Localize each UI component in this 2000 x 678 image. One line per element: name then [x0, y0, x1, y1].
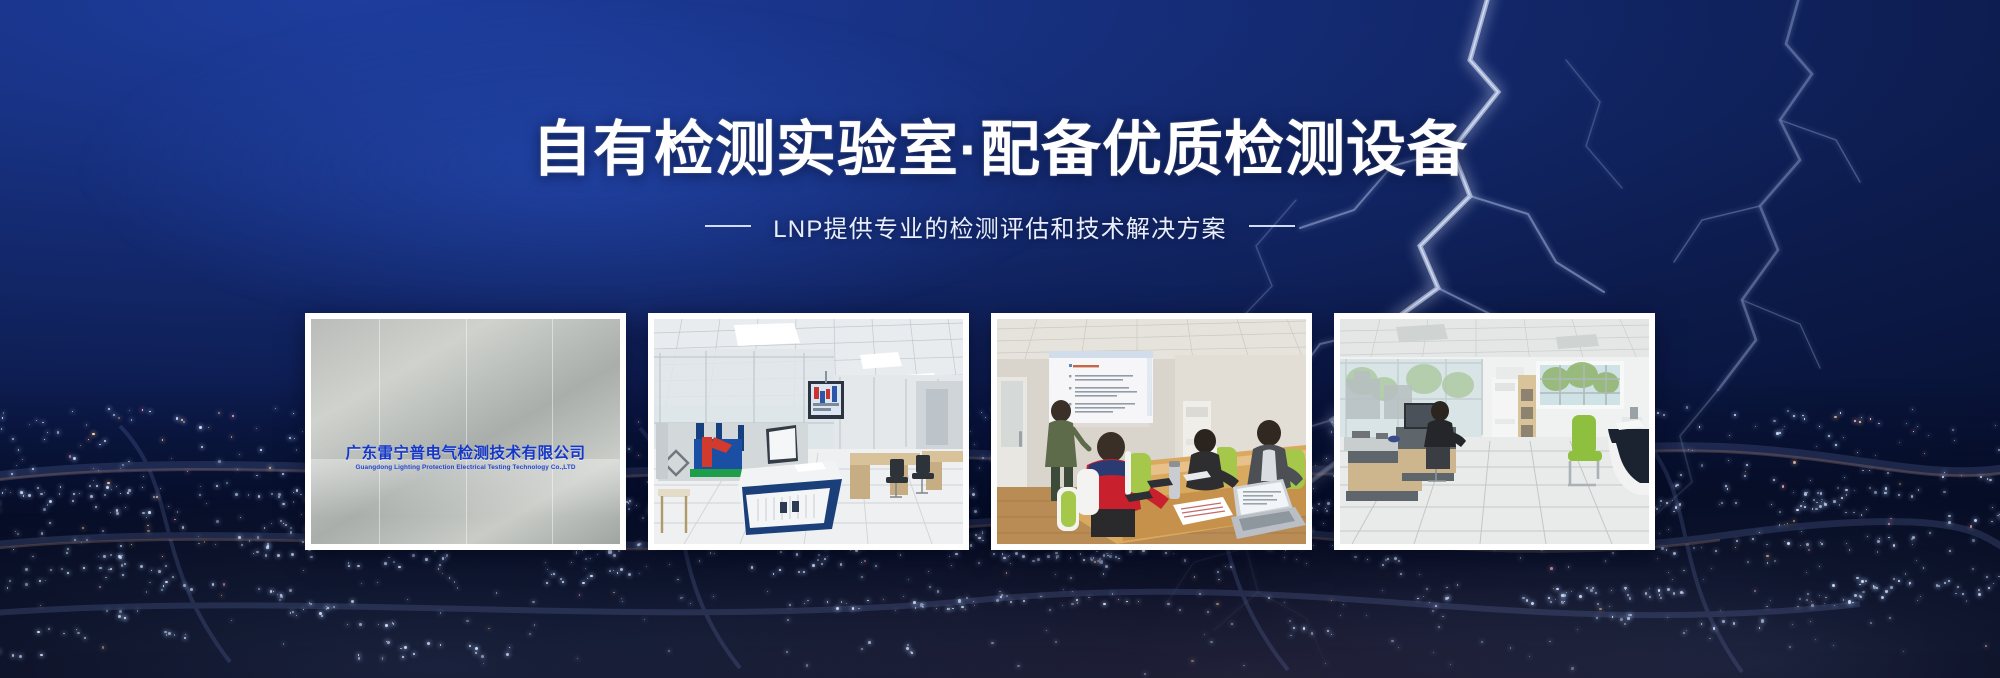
banner-stage: 自有检测实验室·配备优质检测设备 LNP提供专业的检测评估和技术解决方案: [0, 0, 2000, 678]
banner-headline: 自有检测实验室·配备优质检测设备 LNP提供专业的检测评估和技术解决方案: [0, 118, 2000, 244]
gallery-item-meeting[interactable]: [991, 313, 1312, 550]
banner-subtitle: LNP提供专业的检测评估和技术解决方案: [773, 209, 1227, 244]
banner-subtitle-row: LNP提供专业的检测评估和技术解决方案: [0, 209, 2000, 244]
gallery-item-company-sign[interactable]: 广东雷宁普电气检测技术有限公司 Guangdong Lighting Prote…: [305, 313, 626, 550]
gallery-item-office[interactable]: [1334, 313, 1655, 550]
rule-right-icon: [1249, 225, 1295, 227]
company-sign-photo: 广东雷宁普电气检测技术有限公司 Guangdong Lighting Prote…: [311, 319, 620, 544]
photo-gallery: 广东雷宁普电气检测技术有限公司 Guangdong Lighting Prote…: [305, 313, 1655, 550]
hv-lab-photo: [654, 319, 963, 544]
banner-title: 自有检测实验室·配备优质检测设备: [0, 118, 2000, 183]
rule-left-icon: [705, 225, 751, 227]
company-name-en: Guangdong Lighting Protection Electrical…: [355, 464, 575, 471]
meeting-room-photo: [997, 319, 1306, 544]
company-name-zh: 广东雷宁普电气检测技术有限公司: [345, 441, 585, 463]
office-photo: [1340, 319, 1649, 544]
gallery-item-hv-lab[interactable]: [648, 313, 969, 550]
